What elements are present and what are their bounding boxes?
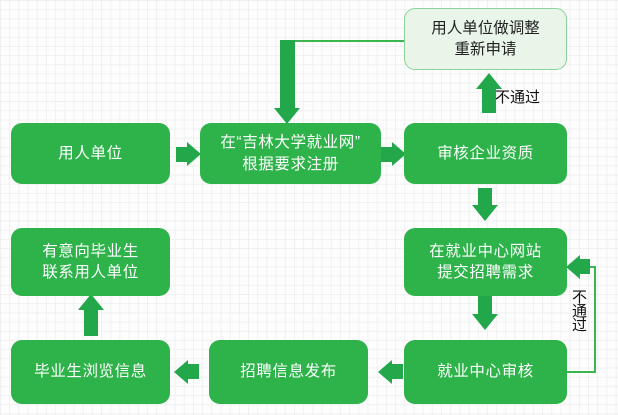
node-submit-demand[interactable]: 在就业中心网站 提交招聘需求 (404, 228, 567, 296)
node-center-review[interactable]: 就业中心审核 (404, 340, 567, 404)
arrowhead-up-into-readjust (476, 73, 502, 89)
node-employer-line-1: 用人单位 (58, 143, 122, 164)
node-readjust-reapply[interactable]: 用人单位做调整 重新申请 (404, 8, 567, 70)
node-submit-demand-line-1: 在就业中心网站 (429, 241, 542, 262)
node-verify-qualification-line-1: 审核企业资质 (437, 143, 534, 164)
connector-center-review-loop-horizontal-bottom (567, 371, 596, 373)
arrowhead-down-into-register (274, 108, 300, 124)
node-graduates-contact[interactable]: 有意向毕业生 联系用人单位 (11, 228, 170, 296)
node-register-line-2: 根据要求注册 (242, 154, 339, 175)
node-submit-demand-line-2: 提交招聘需求 (437, 262, 534, 283)
node-publish-info-line-1: 招聘信息发布 (240, 361, 337, 382)
node-verify-qualification[interactable]: 审核企业资质 (404, 123, 567, 184)
connector-verify-to-readjust (482, 87, 496, 113)
connector-readjust-to-register-horizontal (287, 40, 407, 42)
edge-label-reject-right: 不通过 (571, 289, 586, 331)
edge-label-reject-top: 不通过 (495, 90, 540, 105)
node-graduates-browse[interactable]: 毕业生浏览信息 (11, 340, 170, 404)
arrowhead-up-into-graduates-contact (78, 294, 104, 310)
node-center-review-line-1: 就业中心审核 (437, 361, 534, 382)
node-register[interactable]: 在“吉林大学就业网” 根据要求注册 (200, 123, 381, 184)
flowchart-canvas: 不通过 不通过 用人单位 在“吉林大学就业网” 根据要求注册 审核企业资质 用人… (0, 0, 618, 415)
arrowhead-right-into-register (187, 142, 201, 166)
arrowhead-left-into-publish (378, 360, 392, 384)
node-publish-info[interactable]: 招聘信息发布 (209, 340, 368, 404)
connector-center-review-loop-vertical (594, 266, 596, 373)
connector-graduates-browse-to-contact (84, 308, 98, 336)
node-graduates-contact-line-2: 联系用人单位 (42, 262, 139, 283)
connector-readjust-to-register-vertical (280, 40, 295, 112)
node-readjust-reapply-line-1: 用人单位做调整 (431, 18, 540, 39)
node-employer[interactable]: 用人单位 (11, 123, 170, 184)
node-register-line-1: 在“吉林大学就业网” (220, 132, 360, 153)
arrowhead-down-into-submit (472, 205, 498, 221)
node-graduates-browse-line-1: 毕业生浏览信息 (34, 361, 147, 382)
node-readjust-reapply-line-2: 重新申请 (454, 39, 516, 60)
node-graduates-contact-line-1: 有意向毕业生 (42, 241, 139, 262)
arrowhead-left-into-graduates-browse (174, 360, 188, 384)
arrowhead-down-into-center-review (472, 314, 498, 330)
arrowhead-left-into-submit (566, 255, 580, 279)
